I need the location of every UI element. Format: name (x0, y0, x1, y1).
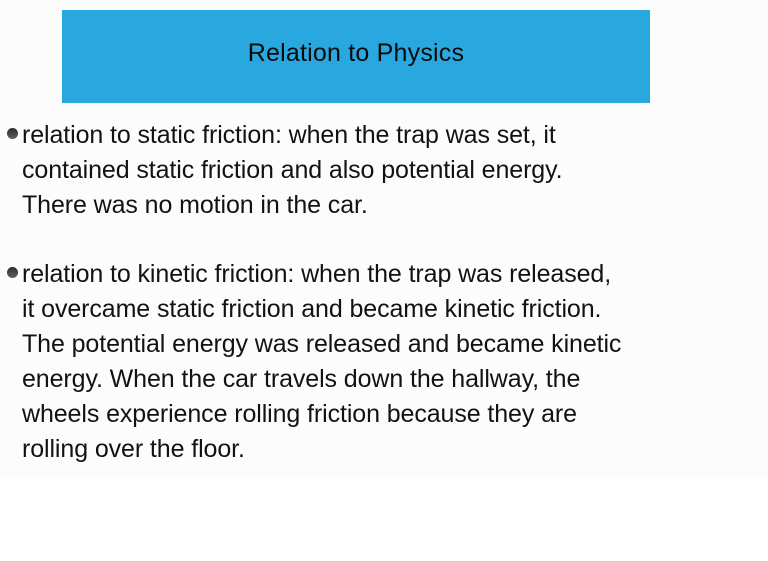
bullet-line: energy. When the car travels down the ha… (22, 362, 762, 397)
round-bullet-icon (7, 128, 18, 139)
bullet-text-static-friction: relation to static friction: when the tr… (22, 118, 762, 223)
bullet-line: wheels experience rolling friction becau… (22, 397, 762, 432)
bullet-line: There was no motion in the car. (22, 188, 762, 223)
bullet-text-kinetic-friction: relation to kinetic friction: when the t… (22, 257, 762, 467)
bullet-line: relation to kinetic friction: when the t… (22, 257, 762, 292)
slide-lower-band (0, 478, 768, 561)
title-banner: Relation to Physics (62, 10, 650, 103)
bullet-paragraph-static-friction: relation to static friction: when the tr… (0, 118, 768, 223)
bullet-paragraph-kinetic-friction: relation to kinetic friction: when the t… (0, 257, 768, 467)
bullet-line: relation to static friction: when the tr… (22, 118, 762, 153)
slide-body: relation to static friction: when the tr… (0, 118, 768, 467)
slide-title: Relation to Physics (248, 38, 464, 68)
bullet-line: it overcame static friction and became k… (22, 292, 762, 327)
bullet-line: The potential energy was released and be… (22, 327, 762, 362)
round-bullet-icon (7, 267, 18, 278)
bullet-line: contained static friction and also poten… (22, 153, 762, 188)
bullet-line: rolling over the floor. (22, 432, 762, 467)
presentation-slide: Relation to Physics relation to static f… (0, 0, 768, 561)
